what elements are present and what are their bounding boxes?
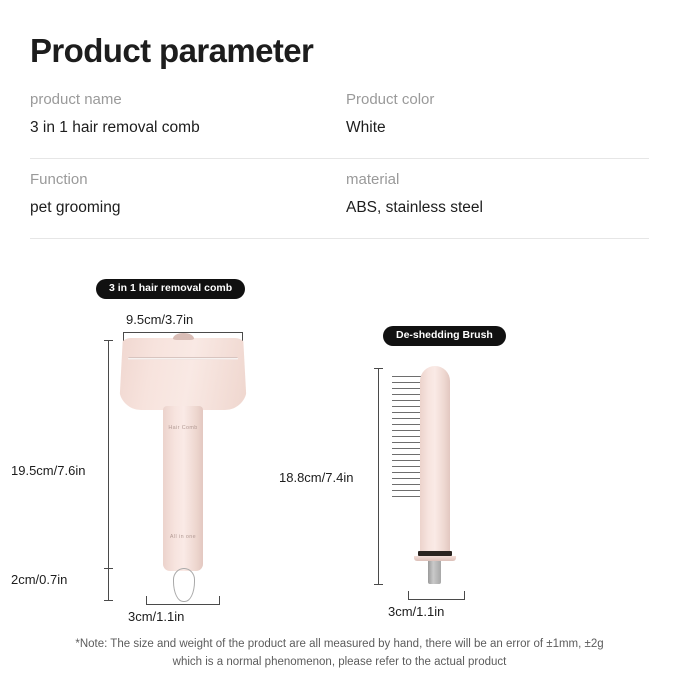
brush-body xyxy=(420,366,450,556)
footnote: *Note: The size and weight of the produc… xyxy=(40,636,639,672)
badge-de-shedding-brush: De-shedding Brush xyxy=(383,326,506,346)
spec-divider xyxy=(30,238,649,239)
spec-label: product name xyxy=(30,92,330,109)
product-diagram: 3 in 1 hair removal comb 9.5cm/3.7in Hai… xyxy=(0,258,679,628)
dim-comb-height: 19.5cm/7.6in xyxy=(8,463,88,478)
dim-comb-width: 9.5cm/3.7in xyxy=(123,312,196,327)
comb-head xyxy=(119,338,247,410)
spec-value: pet grooming xyxy=(30,199,330,216)
dim-brush-height: 18.8cm/7.4in xyxy=(276,470,356,485)
dim-comb-bottom-width: 3cm/1.1in xyxy=(125,609,187,624)
spec-label: Product color xyxy=(346,92,646,109)
spec-value: White xyxy=(346,119,646,136)
spec-cell-function: Function pet grooming xyxy=(30,172,330,216)
spec-cell-material: material ABS, stainless steel xyxy=(346,172,646,216)
comb-loop-tick-bottom xyxy=(104,600,113,601)
brush-height-tick-bottom xyxy=(374,584,383,585)
footnote-line-2: which is a normal phenomenon, please ref… xyxy=(40,654,639,672)
comb-bottom-width-rule xyxy=(146,604,220,605)
comb-head-slot xyxy=(128,357,238,360)
spec-divider xyxy=(30,158,649,159)
spec-value: 3 in 1 hair removal comb xyxy=(30,119,330,136)
badge-hair-removal-comb: 3 in 1 hair removal comb xyxy=(96,279,245,299)
comb-head-tab xyxy=(173,333,194,340)
dim-brush-bottom-width: 3cm/1.1in xyxy=(385,604,447,619)
brush-bottom-width-rule xyxy=(408,599,465,600)
spec-value: ABS, stainless steel xyxy=(346,199,646,216)
comb-loop-tick-top xyxy=(104,568,113,569)
spec-label: material xyxy=(346,172,646,189)
comb-bottom-tick-left xyxy=(146,596,147,605)
brush-bottom-tick-right xyxy=(464,591,465,600)
brush-metal-tip xyxy=(428,561,441,584)
comb-loop-rule xyxy=(108,568,109,601)
spec-row: Function pet grooming material ABS, stai… xyxy=(30,172,649,246)
comb-hanging-loop xyxy=(173,568,195,602)
brush-height-tick-top xyxy=(374,368,383,369)
spec-cell-product-color: Product color White xyxy=(346,92,646,136)
spec-label: Function xyxy=(30,172,330,189)
comb-height-tick-top xyxy=(104,340,113,341)
brush-bottom-tick-left xyxy=(408,591,409,600)
page-title: Product parameter xyxy=(30,34,313,67)
comb-handle-label-hair-comb: Hair Comb xyxy=(163,426,203,431)
comb-bottom-tick-right xyxy=(219,596,220,605)
comb-height-rule xyxy=(108,340,109,568)
spec-row: product name 3 in 1 hair removal comb Pr… xyxy=(30,92,649,166)
brush-height-rule xyxy=(378,368,379,584)
comb-handle-label-all-in-one: All in one xyxy=(163,535,203,540)
spec-cell-product-name: product name 3 in 1 hair removal comb xyxy=(30,92,330,136)
footnote-line-1: *Note: The size and weight of the produc… xyxy=(40,636,639,654)
dim-comb-loop: 2cm/0.7in xyxy=(8,572,70,587)
